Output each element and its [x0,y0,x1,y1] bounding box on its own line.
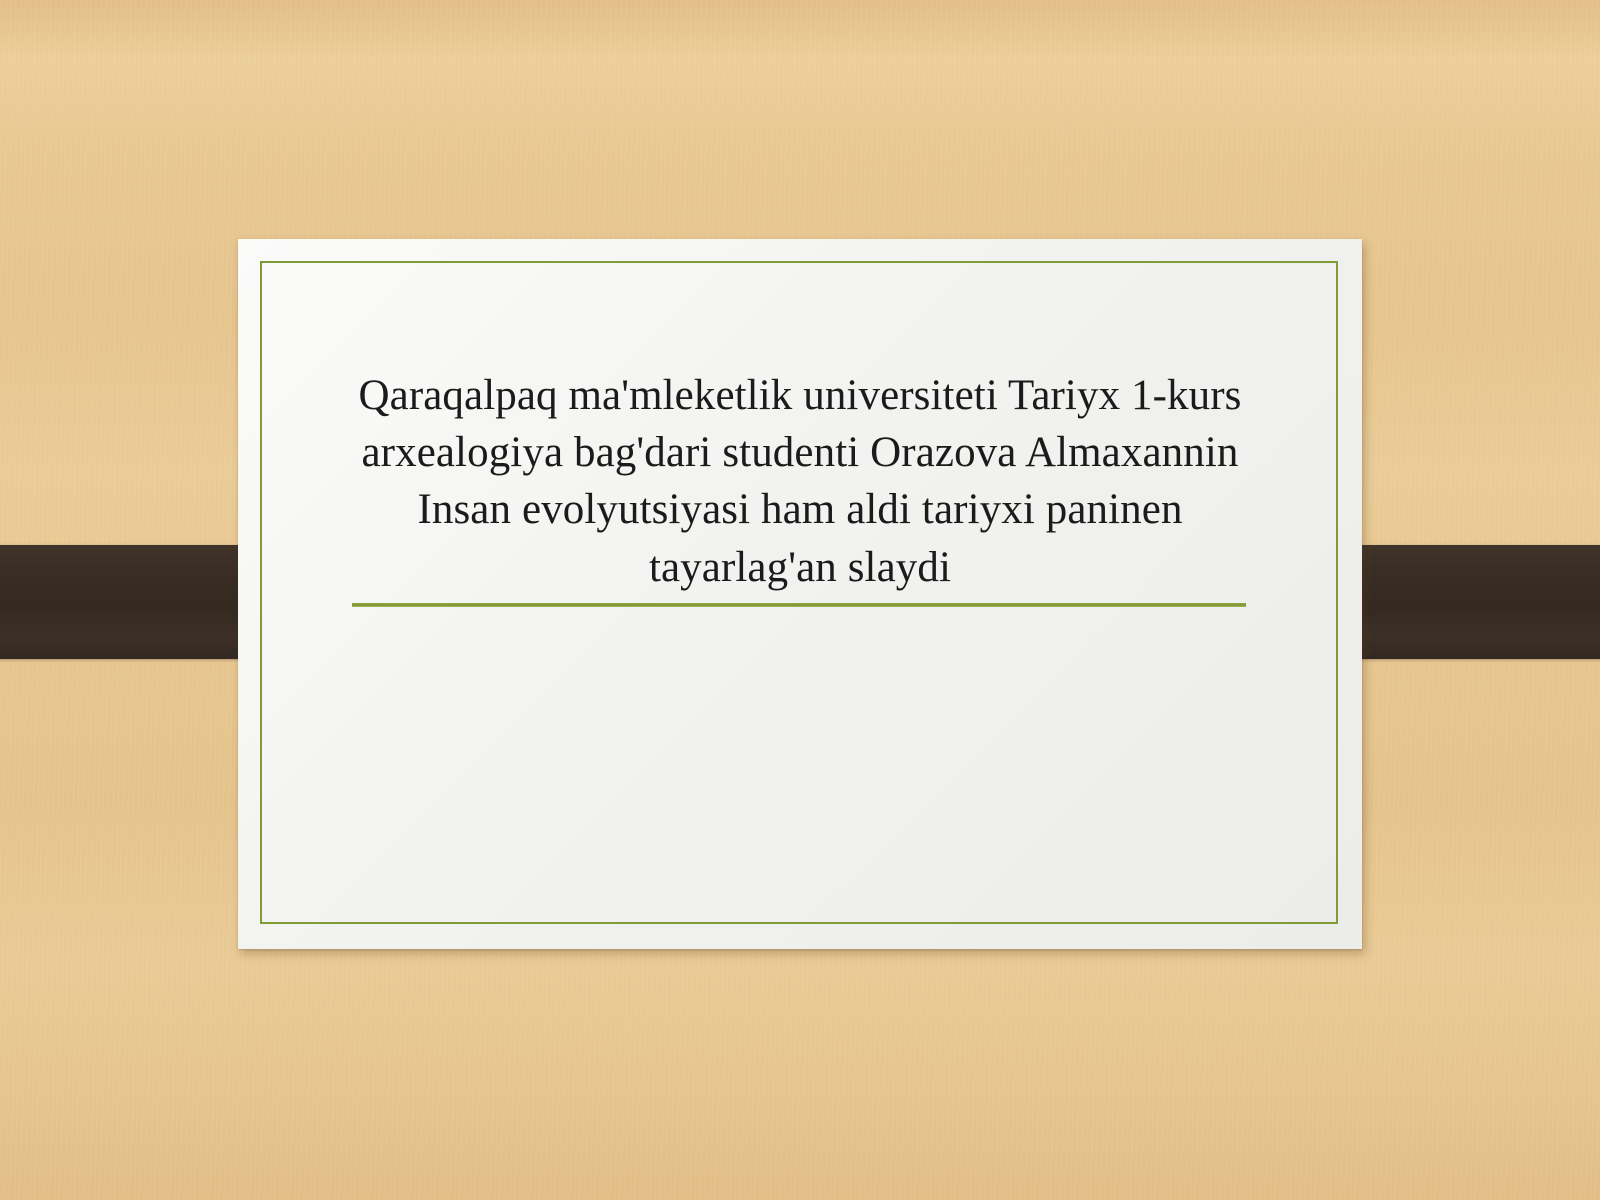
slide-title: Qaraqalpaq ma'mleketlik universiteti Tar… [333,367,1267,596]
slide-stage: Qaraqalpaq ma'mleketlik universiteti Tar… [0,0,1600,1200]
title-underline-rule [352,603,1246,607]
title-block: Qaraqalpaq ma'mleketlik universiteti Tar… [333,367,1267,596]
slide-card: Qaraqalpaq ma'mleketlik universiteti Tar… [238,239,1362,949]
